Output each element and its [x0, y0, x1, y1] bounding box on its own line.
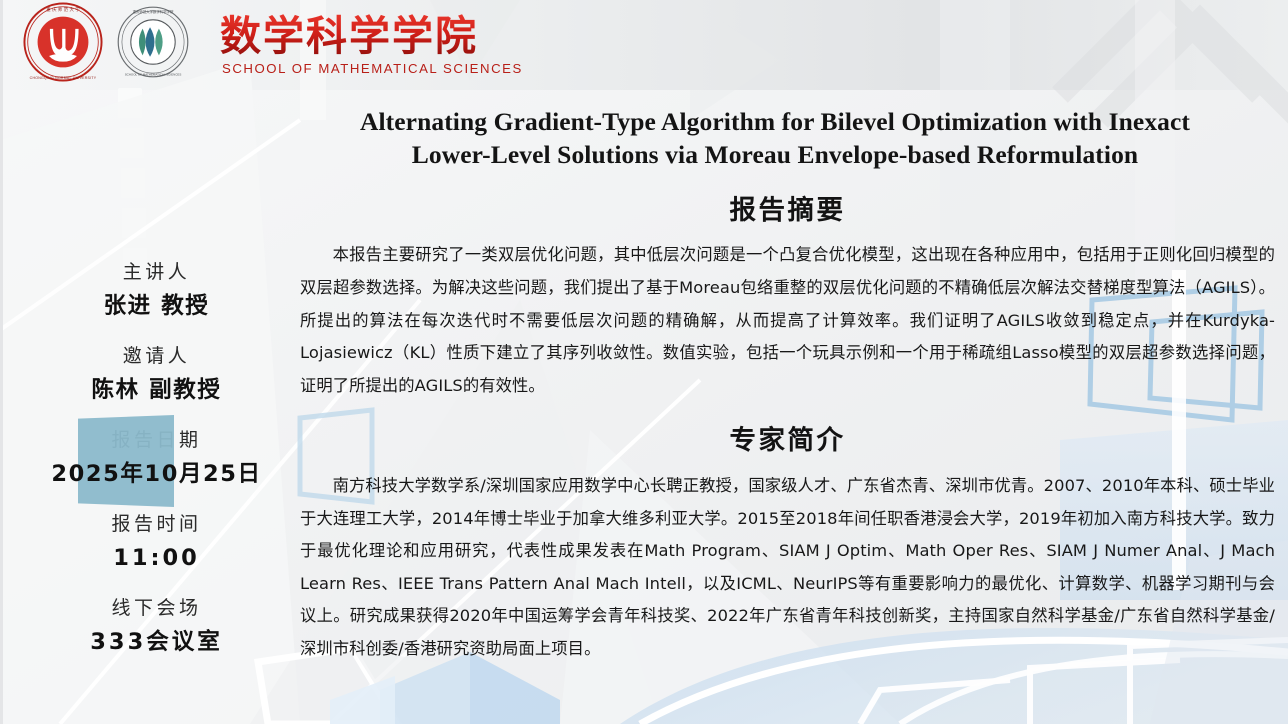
inviter-name: 陈林 副教授: [34, 378, 279, 403]
time-label: 报告时间: [34, 514, 279, 535]
inviter-label: 邀请人: [34, 346, 279, 367]
main-content: 报告摘要 本报告主要研究了一类双层优化问题，其中低层次问题是一个凸复合优化模型，…: [300, 196, 1275, 665]
logo-school-of-mathematical-sciences: 重庆师范大学数学科学学院 SCHOOL OF MATHEMATICAL SCIE…: [104, 5, 190, 84]
talk-title: Alternating Gradient-Type Algorithm for …: [300, 106, 1250, 171]
talk-title-line-1: Alternating Gradient-Type Algorithm for …: [300, 106, 1250, 139]
seminar-poster: 重 庆 师 范 大 学 CHONGQING NORMAL UNIVERSITY …: [0, 0, 1288, 724]
abstract-heading: 报告摘要: [300, 196, 1275, 226]
bio-body: 南方科技大学数学系/深圳国家应用数学中心长聘正教授，国家级人才、广东省杰青、深圳…: [300, 470, 1275, 666]
brand-name-en: SCHOOL OF MATHEMATICAL SCIENCES: [220, 61, 523, 76]
speaker-name: 张进 教授: [34, 294, 279, 319]
venue-value: 333会议室: [34, 630, 279, 655]
venue-label: 线下会场: [34, 598, 279, 619]
svg-text:重庆师范大学数学科学学院: 重庆师范大学数学科学学院: [133, 9, 174, 14]
speaker-info-sidebar: 主讲人 张进 教授 邀请人 陈林 副教授 报告日期 2025年10月25日 报告…: [34, 235, 279, 655]
svg-text:CHONGQING NORMAL UNIVERSITY: CHONGQING NORMAL UNIVERSITY: [30, 75, 97, 79]
svg-text:SCHOOL OF MATHEMATICAL SCIENCE: SCHOOL OF MATHEMATICAL SCIENCES: [125, 72, 182, 76]
brand-name-cn: 数学科学学院: [220, 14, 523, 58]
brand-block: 数学科学学院 SCHOOL OF MATHEMATICAL SCIENCES: [220, 12, 523, 75]
logo-chongqing-normal-university: 重 庆 师 范 大 学 CHONGQING NORMAL UNIVERSITY: [22, 1, 104, 88]
abstract-body: 本报告主要研究了一类双层优化问题，其中低层次问题是一个凸复合优化模型，这出现在各…: [300, 239, 1275, 402]
date-value: 2025年10月25日: [34, 462, 279, 487]
speaker-label: 主讲人: [34, 262, 279, 283]
time-value: 11:00: [34, 546, 279, 571]
talk-title-line-2: Lower-Level Solutions via Moreau Envelop…: [300, 139, 1250, 172]
poster-header: 重 庆 师 范 大 学 CHONGQING NORMAL UNIVERSITY …: [0, 0, 1288, 88]
bio-heading: 专家简介: [300, 426, 1275, 456]
